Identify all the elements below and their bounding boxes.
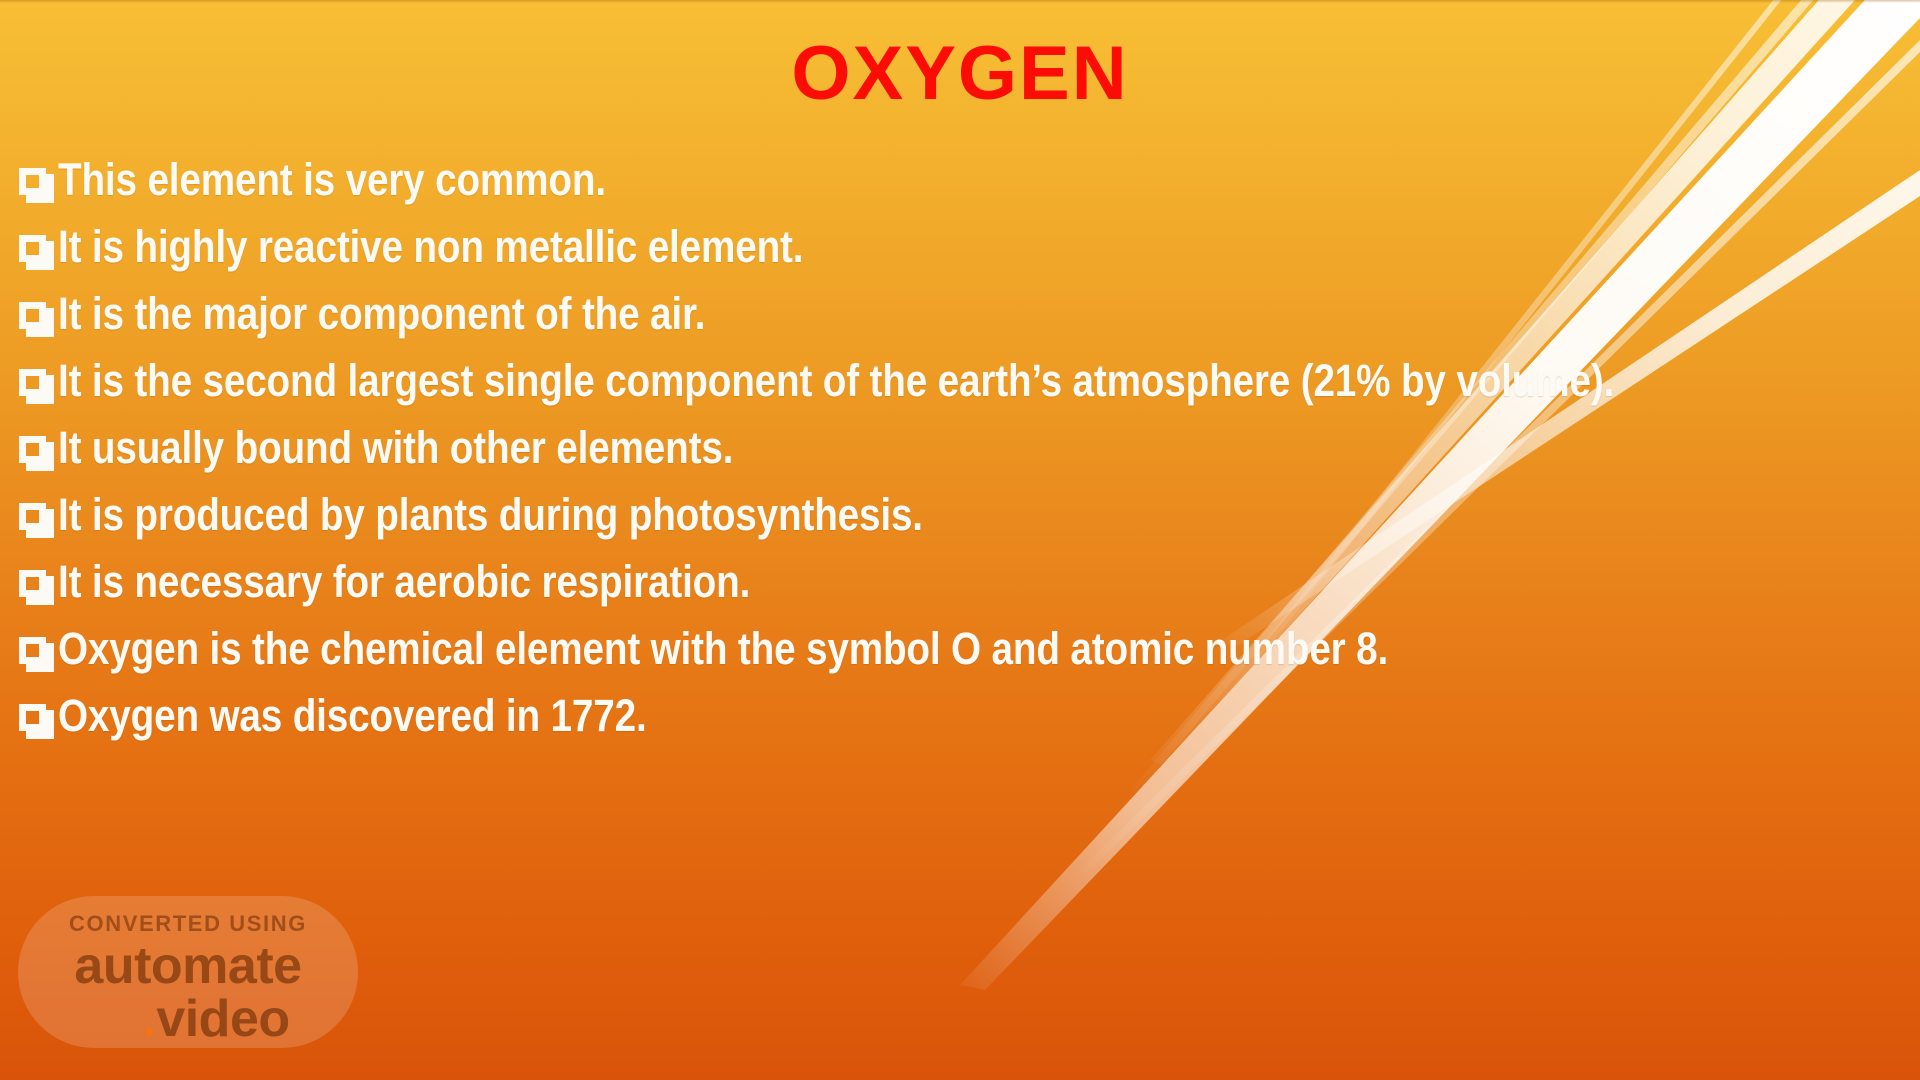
list-item: It is the second largest single componen… xyxy=(18,351,1908,418)
hollow-square-bullet-icon xyxy=(18,361,58,409)
watermark-dot: . xyxy=(142,990,156,1048)
automate-video-watermark: CONVERTED USING automate .video xyxy=(18,896,358,1048)
hollow-square-bullet-icon xyxy=(18,495,58,543)
bullet-list: This element is very common. It is highl… xyxy=(18,150,1908,753)
hollow-square-bullet-icon xyxy=(18,629,58,677)
list-item: Oxygen is the chemical element with the … xyxy=(18,619,1908,686)
hollow-square-bullet-icon xyxy=(18,227,58,275)
list-item-label: It is the major component of the air. xyxy=(58,284,705,344)
list-item-label: It is necessary for aerobic respiration. xyxy=(58,552,750,612)
list-item-label: It usually bound with other elements. xyxy=(58,418,733,478)
hollow-square-bullet-icon xyxy=(18,160,58,208)
list-item-label: Oxygen is the chemical element with the … xyxy=(58,619,1388,679)
hollow-square-bullet-icon xyxy=(18,696,58,744)
list-item-label: This element is very common. xyxy=(58,150,606,210)
slide-canvas: OXYGEN This element is very common. It i… xyxy=(0,0,1920,1080)
list-item-label: It is highly reactive non metallic eleme… xyxy=(58,217,803,277)
slide-title: OXYGEN xyxy=(0,36,1920,112)
list-item-label: It is produced by plants during photosyn… xyxy=(58,485,923,545)
list-item: It usually bound with other elements. xyxy=(18,418,1908,485)
hollow-square-bullet-icon xyxy=(18,562,58,610)
list-item: It is the major component of the air. xyxy=(18,284,1908,351)
list-item: It is produced by plants during photosyn… xyxy=(18,485,1908,552)
hollow-square-bullet-icon xyxy=(18,294,58,342)
list-item: It is necessary for aerobic respiration. xyxy=(18,552,1908,619)
list-item: It is highly reactive non metallic eleme… xyxy=(18,217,1908,284)
watermark-brand: automate xyxy=(18,939,358,993)
list-item: This element is very common. xyxy=(18,150,1908,217)
watermark-tld: video xyxy=(156,990,289,1048)
hollow-square-bullet-icon xyxy=(18,428,58,476)
watermark-tld-row: .video xyxy=(18,993,358,1045)
list-item-label: It is the second largest single componen… xyxy=(58,351,1614,411)
list-item: Oxygen was discovered in 1772. xyxy=(18,686,1908,753)
list-item-label: Oxygen was discovered in 1772. xyxy=(58,686,647,746)
watermark-top-label: CONVERTED USING xyxy=(18,911,358,937)
